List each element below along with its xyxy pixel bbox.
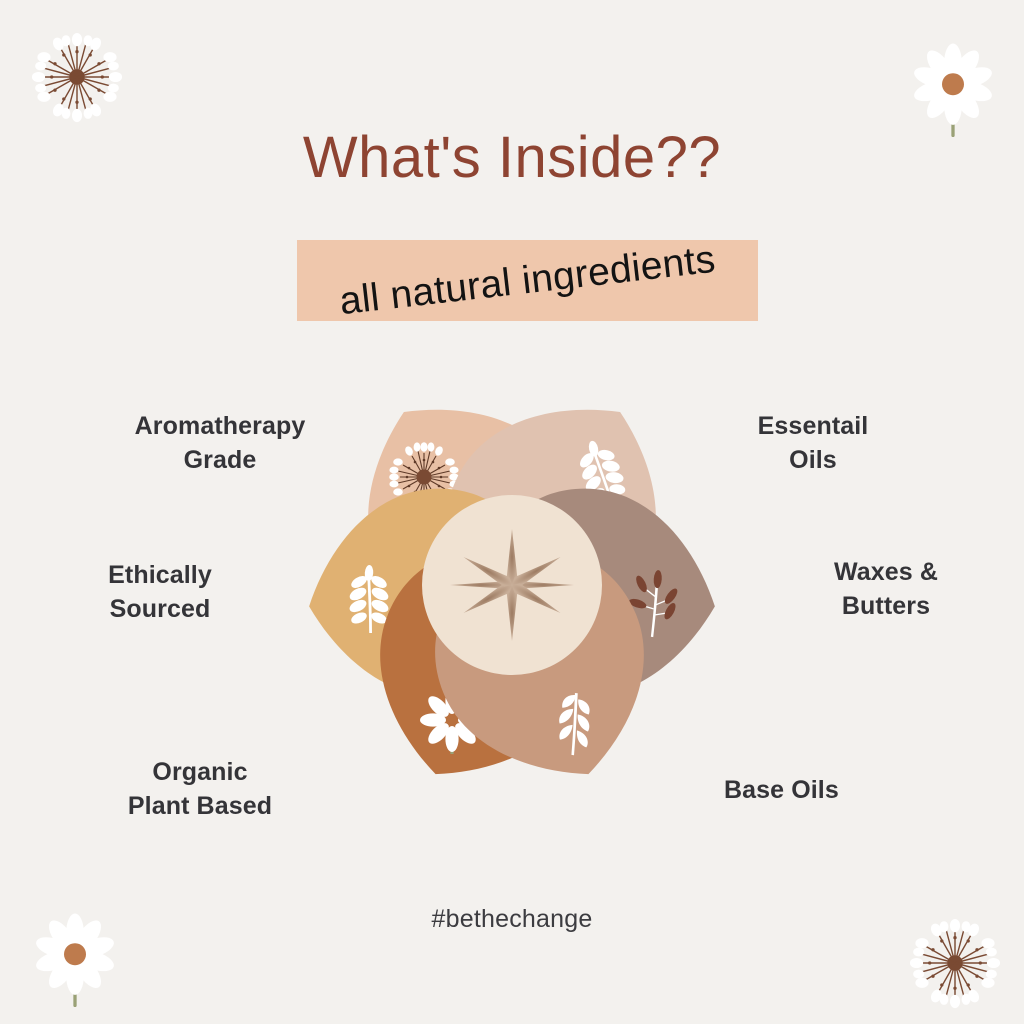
label-line-2: Plant Based <box>84 790 316 824</box>
label-ethically-sourced: Ethically Sourced <box>44 559 276 626</box>
page-title: What's Inside?? <box>0 124 1024 191</box>
label-line-1: Waxes & <box>778 556 994 590</box>
label-line-1: Essentail <box>700 410 926 444</box>
subtitle-text: all natural ingredients <box>294 214 761 347</box>
label-essentail-oils: Essentail Oils <box>700 410 926 477</box>
label-organic-plant-based: Organic Plant Based <box>84 756 316 823</box>
hashtag-text: #bethechange <box>0 905 1024 934</box>
flower-center[interactable] <box>422 495 602 675</box>
label-line-1: Base Oils <box>724 774 940 808</box>
label-line-1: Ethically <box>44 559 276 593</box>
label-waxes-and-butters: Waxes & Butters <box>778 556 994 623</box>
dandelion-burst-icon <box>22 22 132 132</box>
label-aromatherapy-grade: Aromatherapy Grade <box>84 410 356 477</box>
label-base-oils: Base Oils <box>724 774 940 808</box>
label-line-2: Butters <box>778 590 994 624</box>
label-line-2: Grade <box>84 444 356 478</box>
poster-canvas: What's Inside?? all natural ingredients <box>0 0 1024 1024</box>
label-line-2: Oils <box>700 444 926 478</box>
label-line-2: Sourced <box>44 593 276 627</box>
label-line-1: Aromatherapy <box>84 410 356 444</box>
label-line-1: Organic <box>84 756 316 790</box>
